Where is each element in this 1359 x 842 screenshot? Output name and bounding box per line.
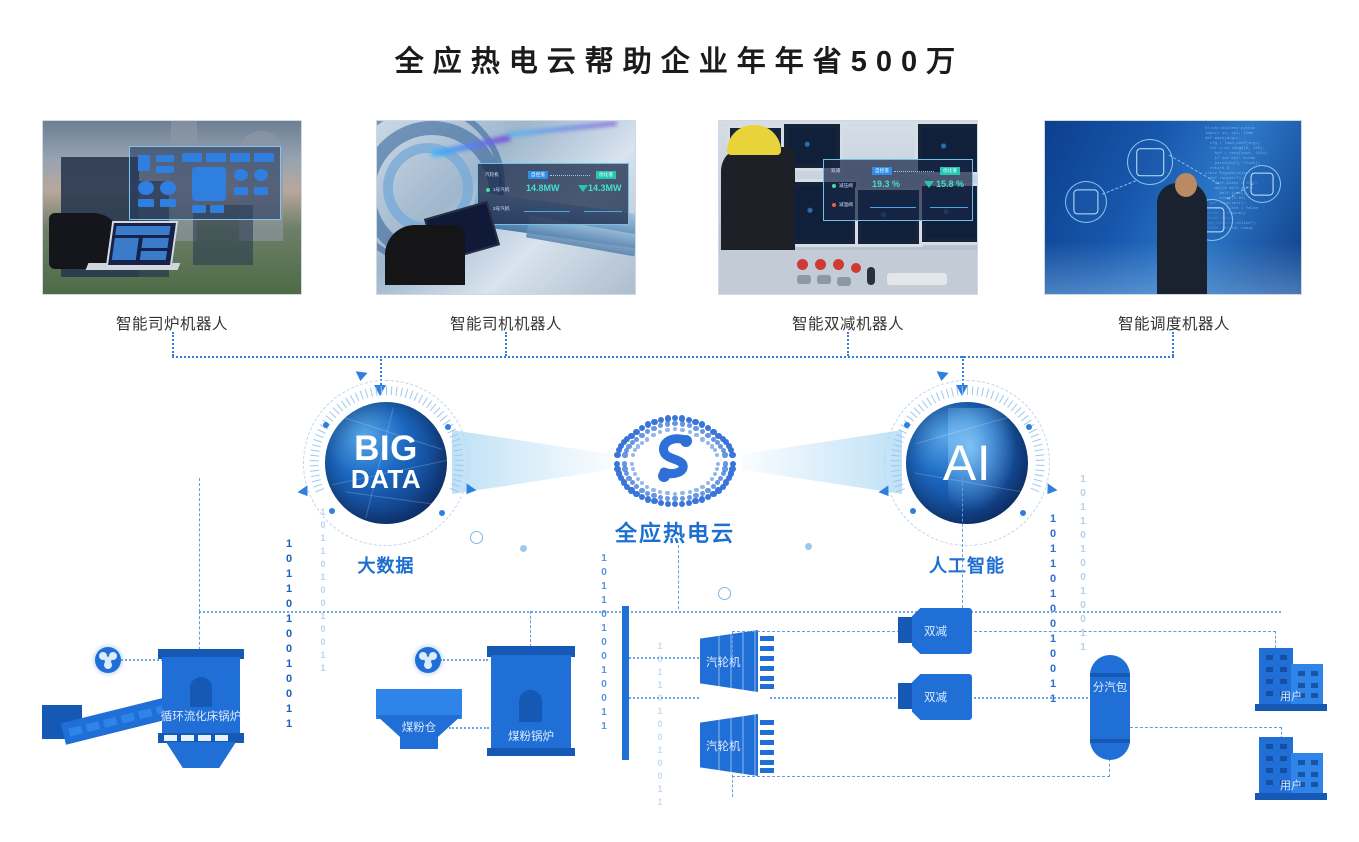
decor-ring-3 [805, 543, 812, 550]
overlay-row-label-2: 2号汽机 [493, 206, 509, 212]
valve-1-label: 双减 [924, 623, 947, 639]
equipment-coal-bin[interactable]: 煤粉仓 [376, 689, 462, 751]
equipment-turbine-1[interactable]: 汽轮机 [700, 630, 774, 692]
overlay-header: 双减 [831, 168, 840, 174]
bus-drop-card2 [505, 332, 507, 356]
ai-label: 人工智能 [884, 552, 1050, 578]
photo-control-room: 双减 自控值 优化值 减压阀 减温阀 19.3 % 15.8 % [718, 120, 978, 295]
card-caption: 智能司机机器人 [376, 312, 636, 334]
overlay-header: 汽轮机 [485, 172, 499, 178]
pipe-drum-to-user2 [1130, 727, 1282, 728]
solution-card-turbine-operator[interactable]: 汽轮机 自控值 优化值 1号汽机 2号汽机 14.8MW 14.3MW 智能司机… [376, 120, 636, 334]
pipe-sensor-cfb [118, 659, 166, 661]
overlay-value-1: 14.8MW [526, 183, 560, 193]
executive-silhouette [1157, 183, 1207, 295]
infographic-canvas: 全应热电云帮助企业年年省500万 [0, 0, 1359, 842]
sensor-radiation-icon-cfb[interactable] [95, 647, 121, 673]
beam-cloud-to-ai [742, 430, 902, 494]
cloud-label: 全应热电云 [590, 516, 760, 548]
photo-digital-dispatch: #!/usr/bin/env python import os, sys, ti… [1044, 120, 1302, 295]
card-caption: 智能司炉机器人 [42, 312, 302, 334]
overlay-value-2: 14.3MW [588, 183, 622, 193]
solution-card-dispatch-operator[interactable]: #!/usr/bin/env python import os, sys, ti… [1044, 120, 1304, 334]
cfb-boiler-label: 循环流化床锅炉 [155, 708, 247, 724]
decor-ring-4 [718, 587, 731, 600]
overlay-tag-optimized: 优化值 [940, 167, 960, 175]
pipe-valve2-to-drum [974, 697, 1096, 699]
bus-drop-card1 [172, 332, 174, 356]
valve-2-label: 双减 [924, 689, 947, 705]
photo-boiler-operator [42, 120, 302, 295]
steam-header-label: 分汽包 [1090, 681, 1130, 695]
data-analysis-icon [1065, 181, 1107, 223]
dashboard-icon [1243, 165, 1281, 203]
solution-card-boiler-operator[interactable]: 智能司炉机器人 [42, 120, 302, 334]
binary-column-4: 1011010010011 [654, 640, 666, 809]
pipe-turbine1-up [732, 631, 733, 657]
card-caption: 智能调度机器人 [1044, 312, 1304, 334]
beam-bigdata-to-cloud [452, 430, 612, 494]
bus-drop-card3 [847, 332, 849, 356]
sensor-radiation-icon-pcboiler[interactable] [415, 647, 441, 673]
head-shape [1175, 173, 1197, 197]
equipment-steam-header-drum[interactable]: 分汽包 [1090, 655, 1130, 760]
flame-monitor-icon [1127, 139, 1173, 185]
binary-column-5: 1011010010011 [1077, 473, 1089, 655]
overlay-row-label-2: 减温阀 [839, 202, 853, 208]
bus-horizontal [172, 356, 1174, 358]
pipe-valve1-to-user1 [974, 631, 1276, 632]
pipe-bigdata-to-cfb [199, 478, 200, 612]
pipe-turbine2-bottom [732, 776, 1110, 777]
ai-line1: AI [943, 437, 991, 489]
bus-drop-card4 [1172, 332, 1174, 356]
equipment-user-1[interactable]: 用户 [1255, 648, 1327, 714]
laptop-screen [106, 221, 178, 267]
page-title: 全应热电云帮助企业年年省500万 [0, 38, 1359, 80]
control-desk [719, 250, 978, 294]
pipe-header-to-turbine2 [629, 697, 699, 699]
equipment-double-reduction-2[interactable]: 双减 [898, 674, 972, 720]
pipe-cloud-to-plant [678, 545, 679, 609]
bigdata-line2: DATA [351, 465, 421, 493]
pipe-bus-to-pcboiler [530, 611, 531, 647]
operator-hand [385, 225, 465, 285]
overlay-tag-optimized: 优化值 [596, 171, 616, 179]
binary-column-3: 1011010010011 [598, 552, 610, 734]
pipe-ai-to-plant [962, 478, 963, 608]
equipment-double-reduction-1[interactable]: 双减 [898, 608, 972, 654]
equipment-user-2[interactable]: 用户 [1255, 737, 1327, 803]
overlay-value-2: 15.8 % [936, 179, 964, 189]
binary-column-1: 1011010010011 [283, 537, 295, 732]
pipe-turbine-to-valve2 [770, 697, 900, 699]
user-1-label: 用户 [1255, 688, 1327, 704]
pipe-header-to-turbine1 [629, 657, 699, 659]
turbine-1-label: 汽轮机 [706, 654, 741, 670]
overlay-tag-auto: 自控值 [872, 167, 892, 175]
decor-ring-1 [470, 531, 483, 544]
photo-turbine-operator: 汽轮机 自控值 优化值 1号汽机 2号汽机 14.8MW 14.3MW [376, 120, 636, 295]
decor-ring-2 [520, 545, 527, 552]
binary-column-2: 1011010010011 [317, 506, 329, 675]
overlay-row-label-1: 减压阀 [839, 183, 853, 189]
turbine-overlay-panel: 汽轮机 自控值 优化值 1号汽机 2号汽机 14.8MW 14.3MW [477, 163, 629, 225]
pipe-sensor-pcboiler [440, 659, 488, 661]
equipment-turbine-2[interactable]: 汽轮机 [700, 714, 774, 776]
overlay-row-label-1: 1号汽机 [493, 187, 509, 193]
overlay-tag-auto: 自控值 [528, 171, 548, 179]
cloud-s-logo [655, 432, 697, 488]
bigdata-line1: BIG [354, 433, 418, 465]
pipe-turbine2-down [732, 775, 733, 797]
valve-overlay-panel: 双减 自控值 优化值 减压阀 减温阀 19.3 % 15.8 % [823, 159, 973, 221]
binary-column-6: 1011010010011 [1047, 512, 1059, 707]
user-2-label: 用户 [1255, 777, 1327, 793]
pipe-turbine1-to-valve1 [732, 631, 900, 632]
pipe-bus-plant [199, 611, 1281, 613]
main-steam-header-pipe [622, 606, 629, 760]
hmi-overlay [129, 146, 281, 220]
overlay-value-1: 19.3 % [872, 179, 900, 189]
turbine-2-label: 汽轮机 [706, 738, 741, 754]
solution-card-valve-operator[interactable]: 双减 自控值 优化值 减压阀 减温阀 19.3 % 15.8 % 智能双减机器人 [718, 120, 978, 334]
coal-bin-label: 煤粉仓 [376, 719, 462, 735]
pc-boiler-label: 煤粉锅炉 [486, 728, 576, 744]
card-caption: 智能双减机器人 [718, 312, 978, 334]
ai-text: AI [884, 380, 1050, 546]
